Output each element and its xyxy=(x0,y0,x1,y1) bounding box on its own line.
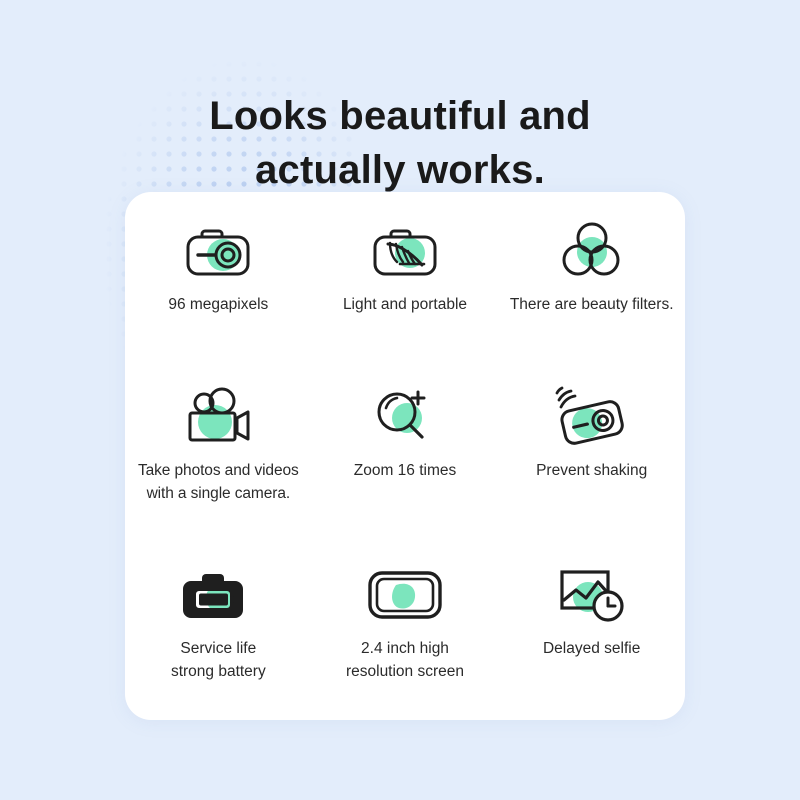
feature-item-zoom: Zoom 16 times xyxy=(312,368,499,544)
feature-label: Light and portable xyxy=(343,293,467,316)
feature-label: Service life strong battery xyxy=(171,637,266,683)
magnifier-plus-icon xyxy=(362,384,448,450)
page-headline: Looks beautiful and actually works. xyxy=(0,89,800,197)
feature-label: Zoom 16 times xyxy=(354,459,457,482)
camera-shake-icon xyxy=(549,384,635,450)
screen-icon xyxy=(362,562,448,628)
feature-item-screen: 2.4 inch high resolution screen xyxy=(312,544,499,720)
feature-grid: 96 megapixels Light and portable xyxy=(125,192,685,720)
feature-label: 96 megapixels xyxy=(168,293,268,316)
video-camera-icon xyxy=(175,384,261,450)
camera-megapixels-icon xyxy=(175,218,261,284)
headline-line-2: actually works. xyxy=(0,143,800,197)
feature-label: Prevent shaking xyxy=(536,459,647,482)
camera-battery-icon xyxy=(175,562,261,628)
feature-label: 2.4 inch high resolution screen xyxy=(346,637,464,683)
feature-card: 96 megapixels Light and portable xyxy=(125,192,685,720)
feature-item-battery: Service life strong battery xyxy=(125,544,312,720)
feature-label: There are beauty filters. xyxy=(510,293,674,316)
camera-feather-icon xyxy=(362,218,448,284)
feature-item-portable: Light and portable xyxy=(312,192,499,368)
feature-item-beauty-filters: There are beauty filters. xyxy=(498,192,685,368)
photo-timer-icon xyxy=(549,562,635,628)
headline-line-1: Looks beautiful and xyxy=(0,89,800,143)
feature-item-delayed-selfie: Delayed selfie xyxy=(498,544,685,720)
three-circles-filter-icon xyxy=(549,218,635,284)
feature-item-anti-shake: Prevent shaking xyxy=(498,368,685,544)
feature-item-megapixels: 96 megapixels xyxy=(125,192,312,368)
feature-label: Delayed selfie xyxy=(543,637,640,660)
feature-item-video-camera: Take photos and videos with a single cam… xyxy=(125,368,312,544)
feature-label: Take photos and videos with a single cam… xyxy=(138,459,299,505)
